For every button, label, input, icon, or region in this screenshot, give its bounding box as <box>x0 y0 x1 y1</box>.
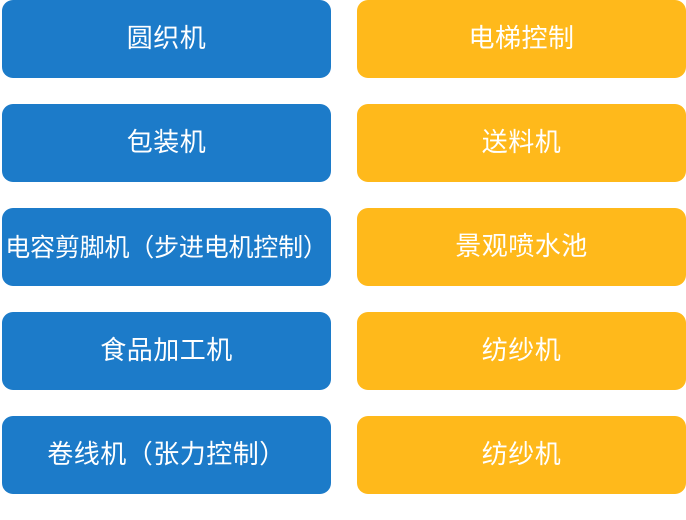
application-chip-right-4[interactable]: 纺纱机 <box>357 312 686 390</box>
application-chip-right-5[interactable]: 纺纱机 <box>357 416 686 494</box>
application-chip-left-5[interactable]: 卷线机（张力控制） <box>2 416 331 494</box>
application-chip-label: 纺纱机 <box>482 442 562 468</box>
application-chip-label: 电梯控制 <box>468 26 574 52</box>
application-chip-left-2[interactable]: 包装机 <box>2 104 331 182</box>
application-chip-label: 食品加工机 <box>100 338 233 364</box>
application-chip-label: 景观喷水池 <box>455 234 588 260</box>
application-chip-left-3[interactable]: 电容剪脚机（步进电机控制） <box>2 208 331 286</box>
application-column-right: 电梯控制 送料机 景观喷水池 纺纱机 纺纱机 <box>357 0 686 520</box>
application-chip-label: 送料机 <box>482 130 562 156</box>
application-column-left: 圆织机 包装机 电容剪脚机（步进电机控制） 食品加工机 卷线机（张力控制） <box>2 0 331 520</box>
application-chip-right-2[interactable]: 送料机 <box>357 104 686 182</box>
application-chip-left-4[interactable]: 食品加工机 <box>2 312 331 390</box>
application-chip-label: 包装机 <box>127 130 207 156</box>
application-list-board: 圆织机 包装机 电容剪脚机（步进电机控制） 食品加工机 卷线机（张力控制） 电梯… <box>0 0 686 503</box>
application-chip-label: 电容剪脚机（步进电机控制） <box>5 235 327 260</box>
application-chip-left-1[interactable]: 圆织机 <box>2 0 331 78</box>
application-chip-right-1[interactable]: 电梯控制 <box>357 0 686 78</box>
application-chip-right-3[interactable]: 景观喷水池 <box>357 208 686 286</box>
application-chip-label: 纺纱机 <box>482 338 562 364</box>
application-chip-label: 圆织机 <box>127 26 207 52</box>
application-chip-label: 卷线机（张力控制） <box>47 442 286 468</box>
